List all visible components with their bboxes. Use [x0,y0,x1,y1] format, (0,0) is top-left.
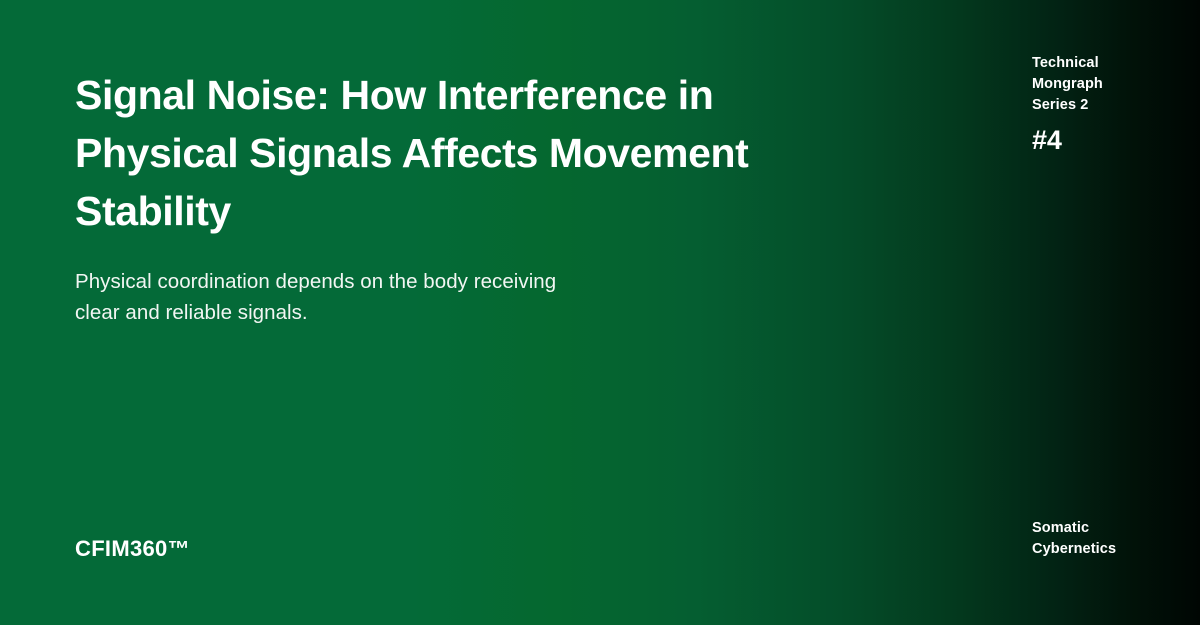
series-label: Technical Mongraph Series 2 [1032,53,1182,116]
issue-number-badge: #4 [1032,116,1182,155]
series-meta-block: Technical Mongraph Series 2 #4 [1032,53,1182,155]
page-title: Signal Noise: How Interference in Physic… [75,66,775,240]
title-card: Signal Noise: How Interference in Physic… [0,0,1200,625]
imprint-label: Somatic Cybernetics [1032,518,1116,560]
brand-wordmark: CFIM360™ [75,535,190,563]
page-subtitle: Physical coordination depends on the bod… [75,240,575,328]
headline-block: Signal Noise: How Interference in Physic… [75,66,775,328]
